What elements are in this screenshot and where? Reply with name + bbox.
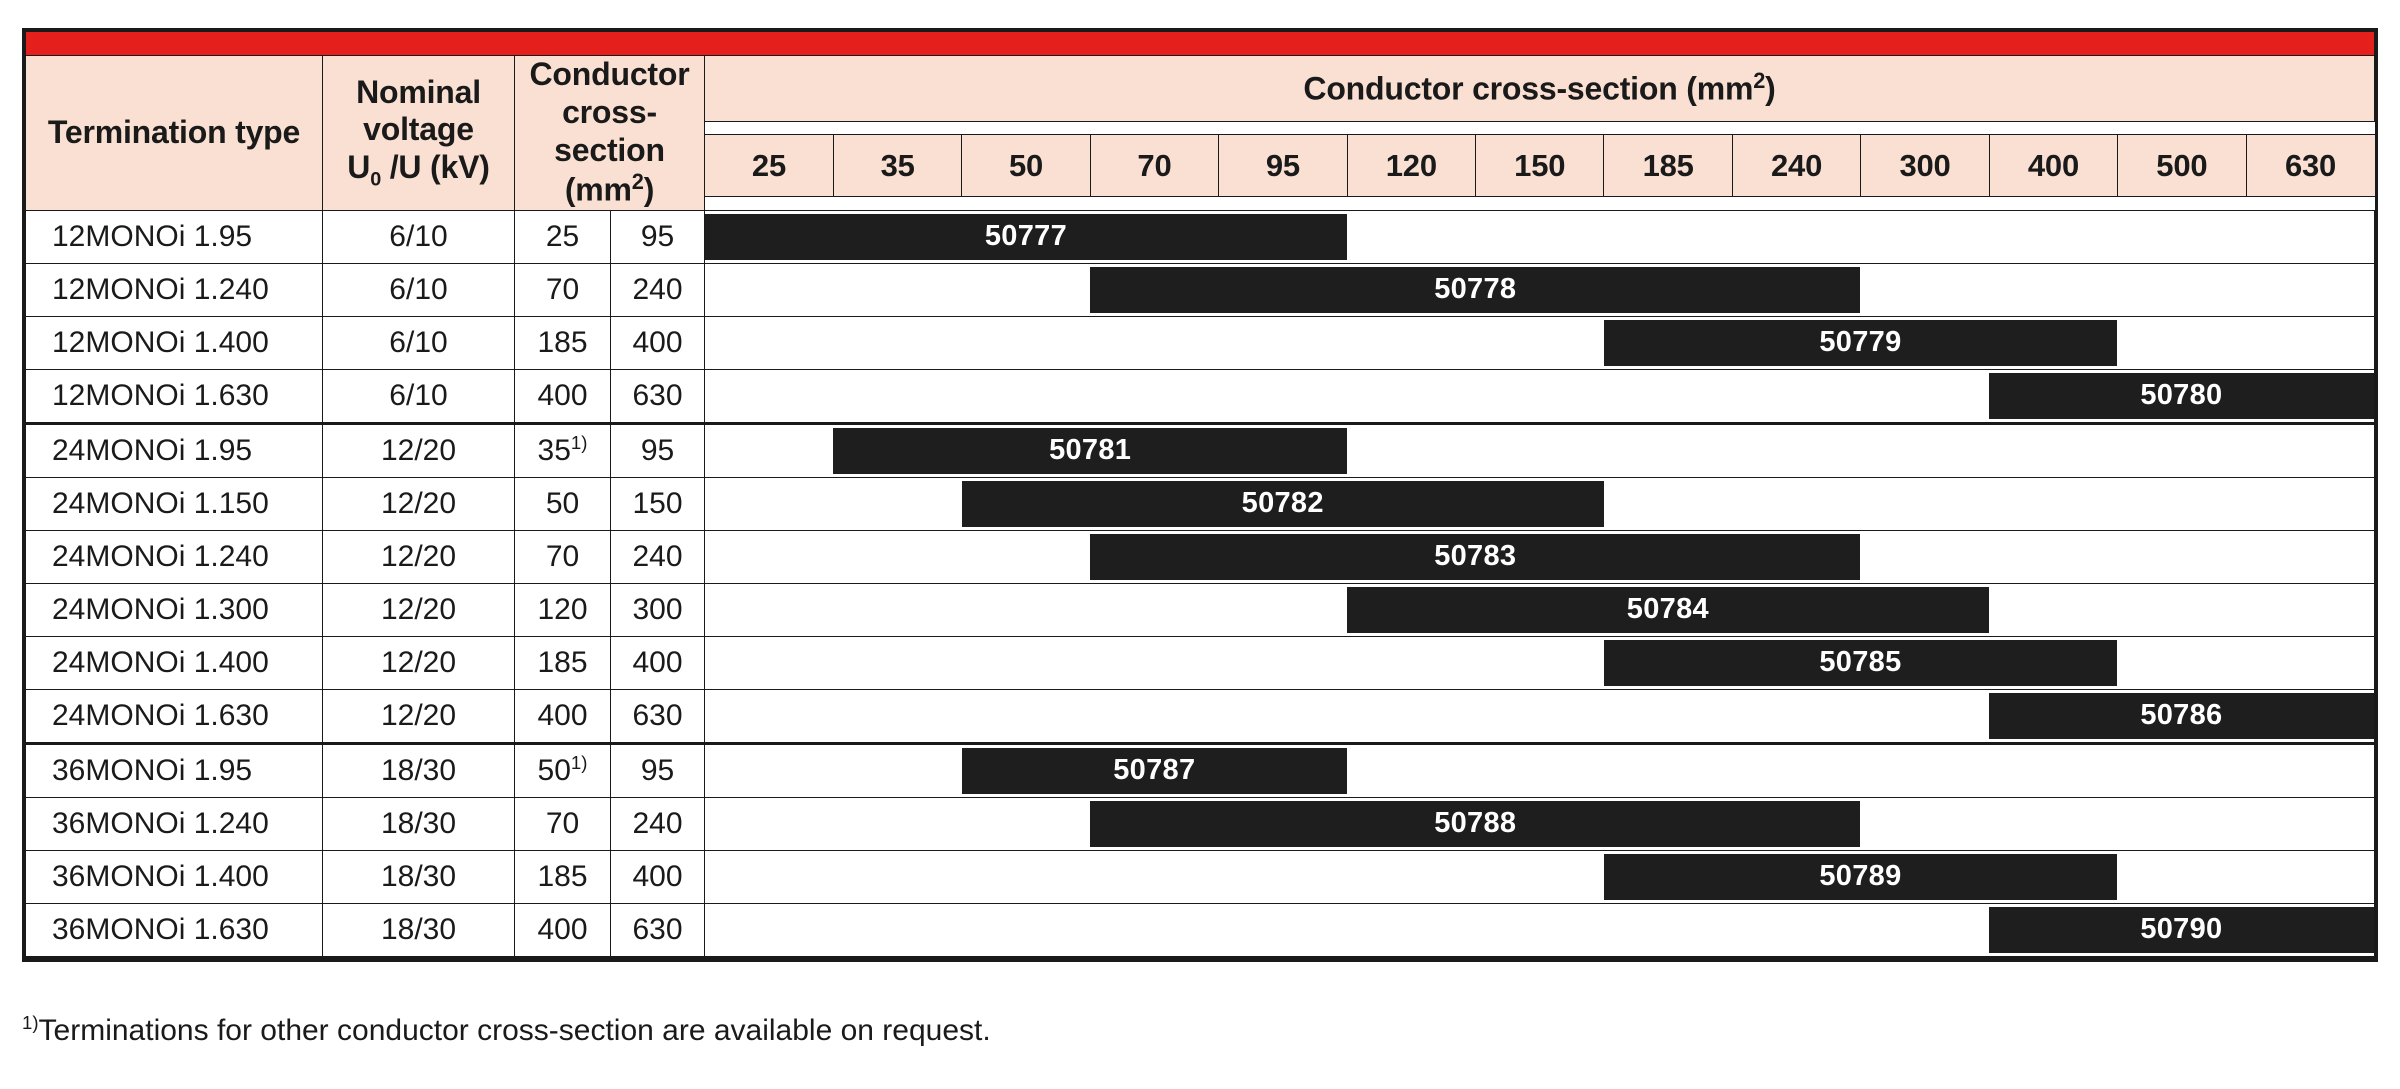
- header-cs-120: 120: [1347, 135, 1475, 197]
- cell-cs-min: 501): [515, 743, 611, 797]
- range-bar: 50780: [1989, 373, 2374, 419]
- header-conductor-cross-section: Conductor cross-section (mm2): [515, 56, 705, 211]
- cell-range: 50785: [705, 636, 2375, 689]
- range-bar: 50788: [1090, 801, 1860, 847]
- range-strip: 50789: [705, 851, 2374, 903]
- table-row: 12MONOi 1.4006/1018540050779: [26, 316, 2375, 369]
- cell-cs-min: 120: [515, 583, 611, 636]
- table-body: 12MONOi 1.956/1025955077712MONOi 1.2406/…: [26, 210, 2375, 957]
- cell-termination-type: 24MONOi 1.95: [26, 423, 323, 477]
- header-ccs-line1: Conductor: [515, 56, 704, 94]
- range-strip: 50785: [705, 637, 2374, 689]
- cell-cs-max: 400: [611, 850, 705, 903]
- cell-cs-max: 150: [611, 477, 705, 530]
- cell-nominal-voltage: 18/30: [323, 797, 515, 850]
- cell-cs-max: 630: [611, 369, 705, 423]
- header-cs-400: 400: [1989, 135, 2117, 197]
- range-bar: 50778: [1090, 267, 1860, 313]
- range-strip: 50780: [705, 370, 2374, 422]
- range-bar: 50785: [1604, 640, 2118, 686]
- header-cs-500: 500: [2118, 135, 2246, 197]
- range-bar: 50787: [962, 748, 1347, 794]
- range-bar: 50779: [1604, 320, 2118, 366]
- header-nominal-voltage-line1: Nominal: [323, 74, 514, 112]
- cell-cs-max: 240: [611, 530, 705, 583]
- range-bar: 50790: [1989, 907, 2374, 953]
- table-row: 36MONOi 1.40018/3018540050789: [26, 850, 2375, 903]
- range-bar: 50783: [1090, 534, 1860, 580]
- range-columns-table: 2535507095120150185240300400500630: [705, 134, 2375, 197]
- cell-cs-max: 95: [611, 423, 705, 477]
- cell-termination-type: 12MONOi 1.400: [26, 316, 323, 369]
- range-strip: 50782: [705, 478, 2374, 530]
- cell-range: 50786: [705, 689, 2375, 743]
- cell-nominal-voltage: 6/10: [323, 210, 515, 263]
- table-row: 24MONOi 1.40012/2018540050785: [26, 636, 2375, 689]
- table-row: 12MONOi 1.6306/1040063050780: [26, 369, 2375, 423]
- table-row: 36MONOi 1.63018/3040063050790: [26, 903, 2375, 957]
- cell-range: 50788: [705, 797, 2375, 850]
- cell-termination-type: 36MONOi 1.240: [26, 797, 323, 850]
- header-range-group-title: Conductor cross-section (mm2): [705, 56, 2375, 122]
- table-row: 36MONOi 1.24018/307024050788: [26, 797, 2375, 850]
- table-row: 12MONOi 1.956/10259550777: [26, 210, 2375, 263]
- cell-range: 50777: [705, 210, 2375, 263]
- cell-cs-max: 400: [611, 636, 705, 689]
- range-strip: 50777: [705, 211, 2374, 263]
- cell-cs-min: 70: [515, 797, 611, 850]
- footnote-ref: 1): [571, 752, 588, 773]
- cell-range: 50784: [705, 583, 2375, 636]
- range-header-row: 2535507095120150185240300400500630: [705, 135, 2375, 197]
- cell-range: 50783: [705, 530, 2375, 583]
- header-cs-70: 70: [1090, 135, 1218, 197]
- cell-cs-min: 351): [515, 423, 611, 477]
- cell-termination-type: 24MONOi 1.630: [26, 689, 323, 743]
- range-strip: 50783: [705, 531, 2374, 583]
- cell-cs-max: 240: [611, 797, 705, 850]
- header-termination-type: Termination type: [26, 56, 323, 211]
- table-row: 24MONOi 1.15012/205015050782: [26, 477, 2375, 530]
- product-selection-table: Termination type Nominal voltage U0 /U (…: [22, 28, 2378, 962]
- cell-cs-min: 50: [515, 477, 611, 530]
- cell-nominal-voltage: 12/20: [323, 689, 515, 743]
- header-nominal-voltage-line3: U0 /U (kV): [323, 149, 514, 192]
- header-nominal-voltage: Nominal voltage U0 /U (kV): [323, 56, 515, 211]
- range-bar: 50784: [1347, 587, 1989, 633]
- red-banner-row: [26, 32, 2375, 56]
- footnote-text: Terminations for other conductor cross-s…: [39, 1014, 991, 1047]
- table-row: 24MONOi 1.63012/2040063050786: [26, 689, 2375, 743]
- cell-range: 50790: [705, 903, 2375, 957]
- cell-cs-max: 400: [611, 316, 705, 369]
- cell-termination-type: 24MONOi 1.150: [26, 477, 323, 530]
- red-banner: [26, 32, 2375, 56]
- cell-termination-type: 24MONOi 1.300: [26, 583, 323, 636]
- table-row: 24MONOi 1.30012/2012030050784: [26, 583, 2375, 636]
- cell-range: 50781: [705, 423, 2375, 477]
- cell-nominal-voltage: 18/30: [323, 850, 515, 903]
- cell-cs-min: 185: [515, 850, 611, 903]
- cell-termination-type: 12MONOi 1.630: [26, 369, 323, 423]
- cell-cs-min: 400: [515, 903, 611, 957]
- cell-cs-min: 70: [515, 263, 611, 316]
- cell-termination-type: 36MONOi 1.95: [26, 743, 323, 797]
- header-nominal-voltage-line2: voltage: [323, 111, 514, 149]
- cell-range: 50789: [705, 850, 2375, 903]
- cell-range: 50778: [705, 263, 2375, 316]
- cell-cs-max: 95: [611, 743, 705, 797]
- cell-termination-type: 36MONOi 1.630: [26, 903, 323, 957]
- header-ccs-line3: (mm2): [515, 169, 704, 209]
- datatable: Termination type Nominal voltage U0 /U (…: [25, 31, 2375, 959]
- cell-termination-type: 36MONOi 1.400: [26, 850, 323, 903]
- cell-cs-min: 185: [515, 636, 611, 689]
- cell-range: 50780: [705, 369, 2375, 423]
- range-bar: 50786: [1989, 693, 2374, 739]
- cell-termination-type: 12MONOi 1.240: [26, 263, 323, 316]
- cell-nominal-voltage: 12/20: [323, 477, 515, 530]
- cell-nominal-voltage: 12/20: [323, 636, 515, 689]
- cell-nominal-voltage: 12/20: [323, 583, 515, 636]
- header-cs-95: 95: [1219, 135, 1347, 197]
- cell-termination-type: 24MONOi 1.240: [26, 530, 323, 583]
- cell-range: 50779: [705, 316, 2375, 369]
- header-row-top: Termination type Nominal voltage U0 /U (…: [26, 56, 2375, 122]
- table-row: 24MONOi 1.24012/207024050783: [26, 530, 2375, 583]
- cell-cs-max: 240: [611, 263, 705, 316]
- cell-termination-type: 12MONOi 1.95: [26, 210, 323, 263]
- header-cs-300: 300: [1861, 135, 1989, 197]
- header-cs-150: 150: [1476, 135, 1604, 197]
- cell-nominal-voltage: 12/20: [323, 423, 515, 477]
- cell-termination-type: 24MONOi 1.400: [26, 636, 323, 689]
- footnote-marker: 1): [22, 1012, 39, 1033]
- cell-cs-max: 630: [611, 689, 705, 743]
- cell-range: 50782: [705, 477, 2375, 530]
- cell-nominal-voltage: 18/30: [323, 903, 515, 957]
- table-head: Termination type Nominal voltage U0 /U (…: [26, 32, 2375, 211]
- cell-cs-max: 630: [611, 903, 705, 957]
- range-strip: 50781: [705, 425, 2374, 477]
- range-strip: 50787: [705, 745, 2374, 797]
- header-cs-630: 630: [2246, 135, 2374, 197]
- range-strip: 50784: [705, 584, 2374, 636]
- cell-cs-min: 400: [515, 689, 611, 743]
- header-cs-185: 185: [1604, 135, 1732, 197]
- range-strip: 50788: [705, 798, 2374, 850]
- range-strip: 50790: [705, 904, 2374, 956]
- cell-cs-min: 185: [515, 316, 611, 369]
- header-cs-25: 25: [705, 135, 833, 197]
- range-bar: 50789: [1604, 854, 2118, 900]
- page-root: Termination type Nominal voltage U0 /U (…: [0, 0, 2400, 1089]
- footnote-ref: 1): [571, 432, 588, 453]
- cell-cs-max: 95: [611, 210, 705, 263]
- range-bar: 50782: [962, 481, 1604, 527]
- table-row: 24MONOi 1.9512/20351)9550781: [26, 423, 2375, 477]
- cell-cs-min: 70: [515, 530, 611, 583]
- range-bar: 50781: [833, 428, 1347, 474]
- range-bar: 50777: [705, 214, 1347, 260]
- header-cs-240: 240: [1732, 135, 1860, 197]
- cell-nominal-voltage: 18/30: [323, 743, 515, 797]
- footnote: 1)Terminations for other conductor cross…: [22, 1014, 991, 1048]
- cell-nominal-voltage: 6/10: [323, 369, 515, 423]
- cell-nominal-voltage: 6/10: [323, 263, 515, 316]
- table-row: 36MONOi 1.9518/30501)9550787: [26, 743, 2375, 797]
- header-range-columns-cell: 2535507095120150185240300400500630: [705, 122, 2375, 211]
- cell-range: 50787: [705, 743, 2375, 797]
- cell-nominal-voltage: 12/20: [323, 530, 515, 583]
- table-row: 12MONOi 1.2406/107024050778: [26, 263, 2375, 316]
- range-strip: 50778: [705, 264, 2374, 316]
- range-strip: 50786: [705, 690, 2374, 742]
- header-ccs-line2: cross-section: [515, 94, 704, 170]
- cell-cs-min: 400: [515, 369, 611, 423]
- cell-cs-min: 25: [515, 210, 611, 263]
- range-strip: 50779: [705, 317, 2374, 369]
- cell-cs-max: 300: [611, 583, 705, 636]
- header-cs-50: 50: [962, 135, 1090, 197]
- header-cs-35: 35: [833, 135, 961, 197]
- cell-nominal-voltage: 6/10: [323, 316, 515, 369]
